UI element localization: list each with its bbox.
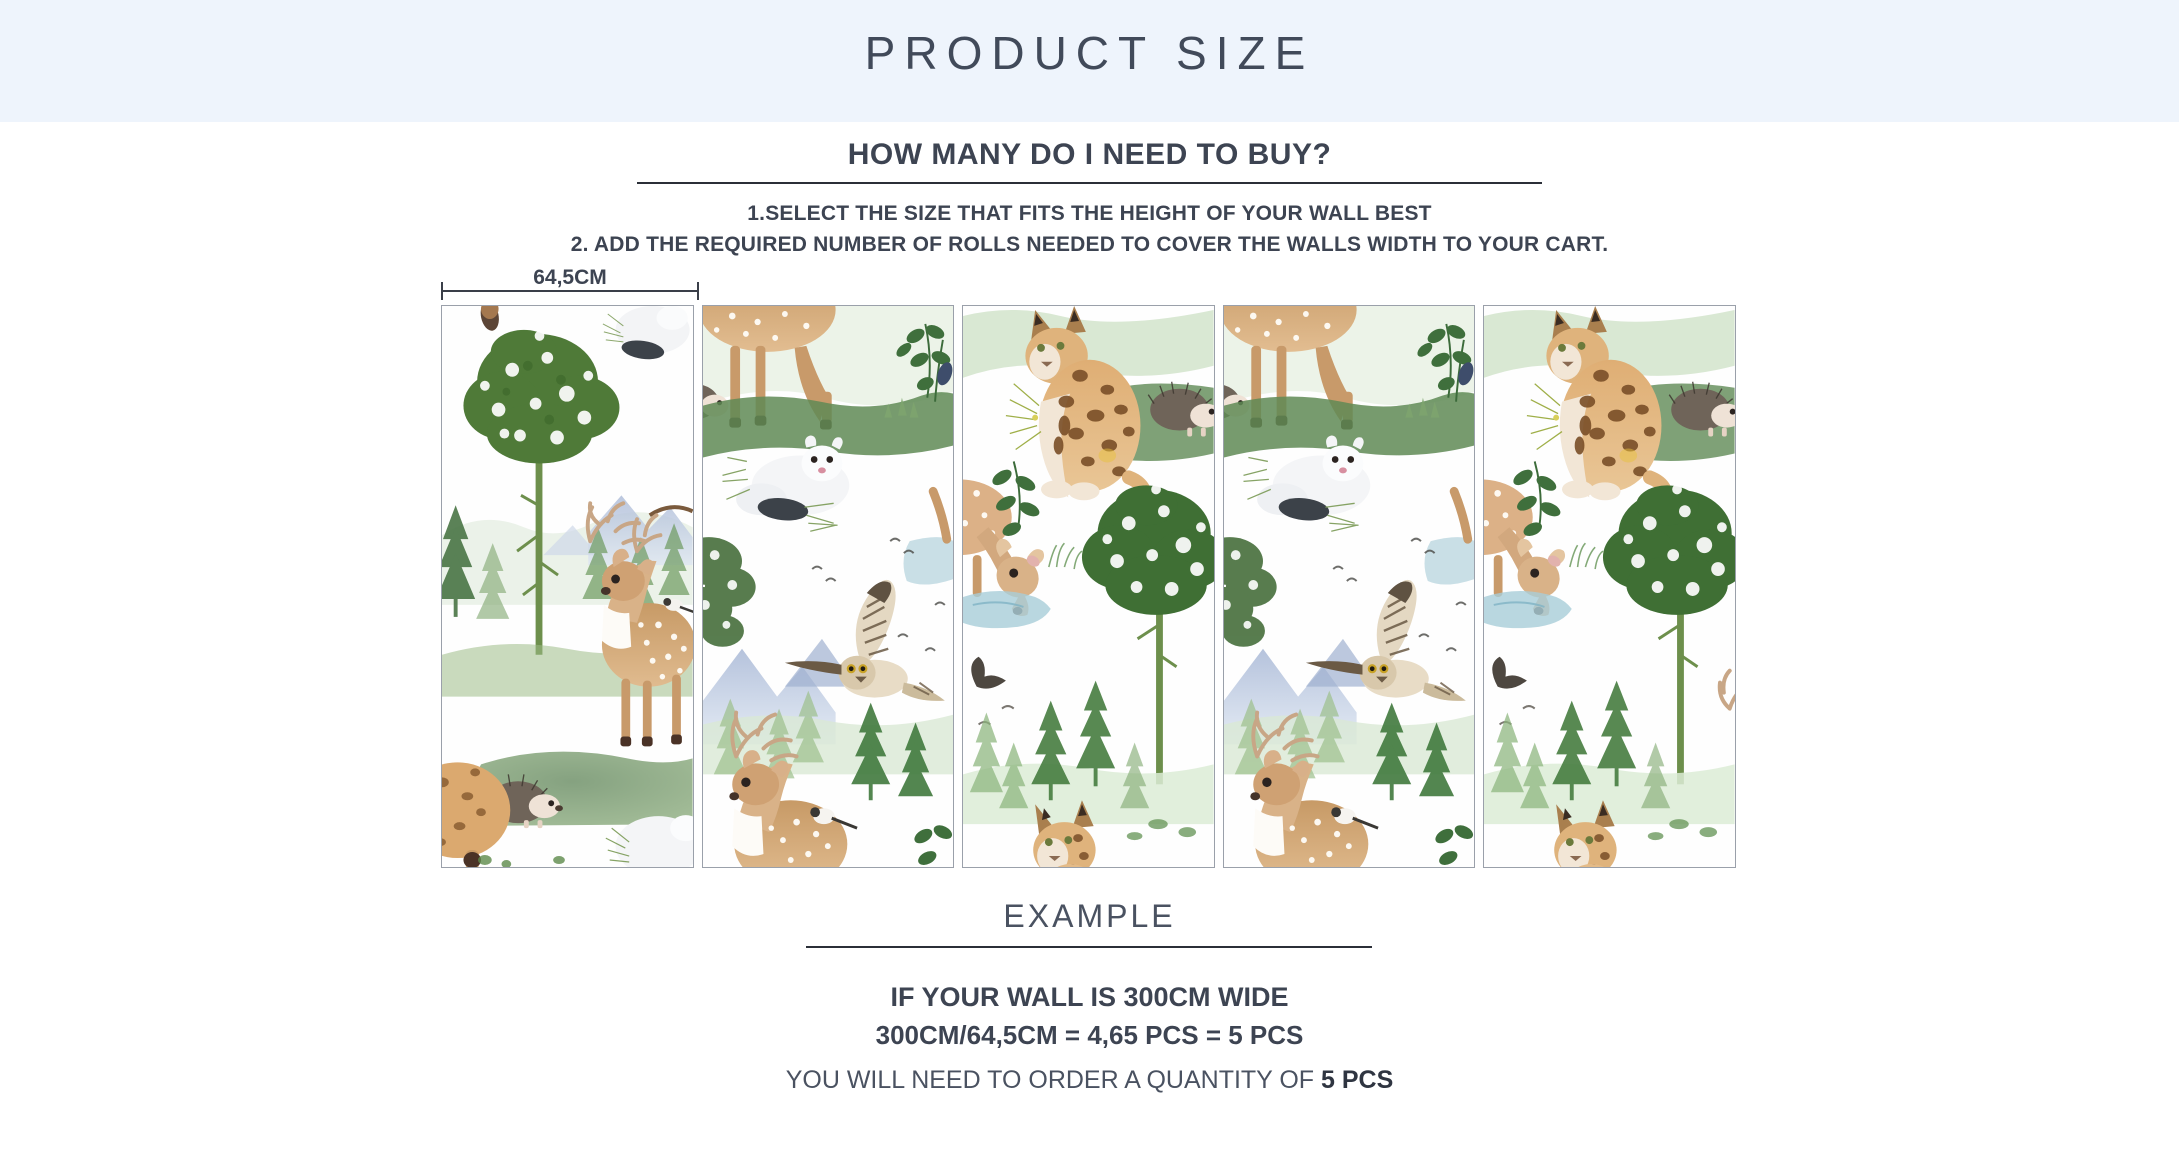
product-size-page: PRODUCT SIZE HOW MANY DO I NEED TO BUY? … bbox=[0, 0, 2179, 1165]
dimension-label: 64,5CM bbox=[441, 266, 699, 290]
wallpaper-panel-5[interactable] bbox=[1483, 305, 1736, 868]
example-line-3-prefix: YOU WILL NEED TO ORDER A QUANTITY OF bbox=[786, 1066, 1321, 1094]
page-title: PRODUCT SIZE bbox=[0, 26, 2179, 80]
example-line-2: 300CM/64,5CM = 4,65 PCS = 5 PCS bbox=[0, 1020, 2179, 1051]
woodland-pattern-art-4 bbox=[1224, 306, 1475, 867]
woodland-pattern-art-3 bbox=[963, 306, 1214, 867]
example-line-1: IF YOUR WALL IS 300CM WIDE bbox=[0, 982, 2179, 1013]
section-title: HOW MANY DO I NEED TO BUY? bbox=[0, 138, 2179, 172]
section-divider bbox=[637, 182, 1542, 184]
woodland-pattern-art-5 bbox=[1484, 306, 1735, 867]
instruction-line-1: 1.SELECT THE SIZE THAT FITS THE HEIGHT O… bbox=[0, 202, 2179, 226]
example-divider bbox=[806, 946, 1372, 948]
instruction-line-2: 2. ADD THE REQUIRED NUMBER OF ROLLS NEED… bbox=[0, 233, 2179, 257]
example-title: EXAMPLE bbox=[0, 898, 2179, 935]
dimension-line bbox=[441, 290, 699, 292]
woodland-pattern-art-2 bbox=[703, 306, 954, 867]
wallpaper-panel-4[interactable] bbox=[1223, 305, 1476, 868]
dimension-tick-right bbox=[697, 282, 699, 300]
example-line-3: YOU WILL NEED TO ORDER A QUANTITY OF 5 P… bbox=[0, 1066, 2179, 1095]
wallpaper-panel-3[interactable] bbox=[962, 305, 1215, 868]
wallpaper-panel-2[interactable] bbox=[702, 305, 955, 868]
wallpaper-panel-strip bbox=[441, 305, 1736, 868]
dimension-tick-left bbox=[441, 282, 443, 300]
woodland-pattern-art-1 bbox=[442, 306, 693, 867]
example-quantity: 5 PCS bbox=[1321, 1066, 1393, 1094]
wallpaper-panel-1[interactable] bbox=[441, 305, 694, 868]
